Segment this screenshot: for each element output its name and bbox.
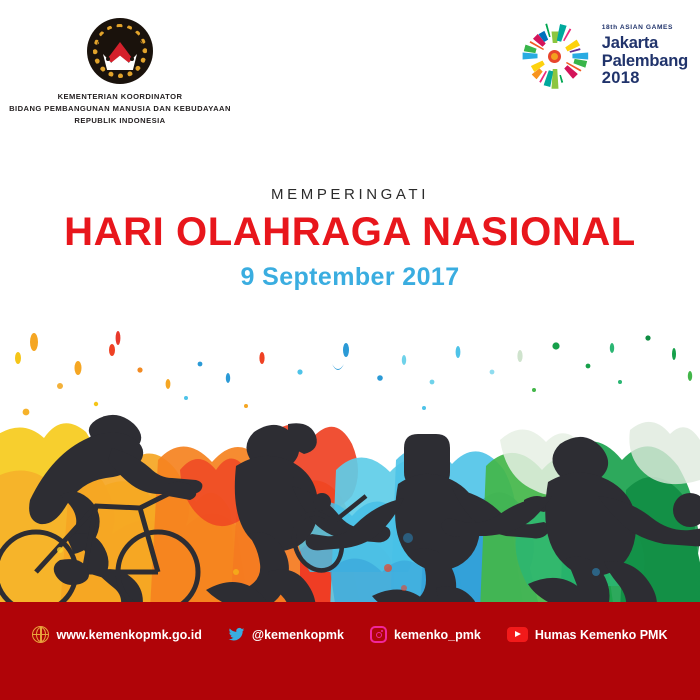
ministry-lockup: KEMENTERIAN KOORDINATOR BIDANG PEMBANGUN… — [0, 18, 240, 126]
sport-splash-artwork — [0, 320, 700, 610]
asian-games-ray — [551, 31, 558, 43]
asian-games-logo: 18th ASIAN GAMES Jakarta Palembang 2018 — [516, 14, 688, 98]
asian-games-wordmark: 18th ASIAN GAMES Jakarta Palembang 2018 — [602, 25, 688, 86]
asian-games-city-2: Palembang — [602, 53, 688, 70]
asian-games-year: 2018 — [602, 70, 688, 87]
asian-games-ray — [559, 75, 563, 84]
page-title: HARI OLAHRAGA NASIONAL — [0, 212, 700, 252]
ministry-name: KEMENTERIAN KOORDINATOR BIDANG PEMBANGUN… — [0, 91, 240, 126]
social-label-twitter: @kemenkopmk — [252, 628, 344, 642]
asian-games-energy-of-asia-icon — [516, 14, 594, 98]
event-date: 9 September 2017 — [0, 263, 700, 292]
social-label-youtube: Humas Kemenko PMK — [535, 628, 668, 642]
asian-games-ray — [522, 53, 537, 60]
instagram-icon — [370, 626, 387, 643]
ministry-line-3: REPUBLIK INDONESIA — [0, 115, 240, 127]
eyebrow-text: MEMPERINGATI — [0, 186, 700, 203]
globe-icon — [32, 626, 49, 643]
asian-games-edition: 18th ASIAN GAMES — [602, 25, 688, 32]
social-link-youtube[interactable]: Humas Kemenko PMK — [507, 627, 668, 642]
twitter-icon — [228, 626, 245, 643]
kemenko-pmk-emblem-icon — [87, 18, 153, 84]
social-link-instagram[interactable]: kemenko_pmk — [370, 626, 481, 643]
ministry-line-1: KEMENTERIAN KOORDINATOR — [0, 91, 240, 103]
asian-games-city-1: Jakarta — [602, 35, 688, 52]
social-link-twitter[interactable]: @kemenkopmk — [228, 626, 344, 643]
asian-games-ray — [563, 64, 578, 79]
social-links: www.kemenkopmk.go.id @kemenkopmk kemenko… — [0, 626, 700, 643]
youtube-icon — [507, 627, 528, 642]
poster-canvas: KEMENTERIAN KOORDINATOR BIDANG PEMBANGUN… — [0, 0, 700, 700]
social-link-website[interactable]: www.kemenkopmk.go.id — [32, 626, 201, 643]
social-label-instagram: kemenko_pmk — [394, 628, 481, 642]
ministry-line-2: BIDANG PEMBANGUNAN MANUSIA DAN KEBUDAYAA… — [0, 103, 240, 115]
headline-block: MEMPERINGATI HARI OLAHRAGA NASIONAL 9 Se… — [0, 186, 700, 292]
footer-bar: www.kemenkopmk.go.id @kemenkopmk kemenko… — [0, 602, 700, 700]
social-label-website: www.kemenkopmk.go.id — [56, 628, 201, 642]
asian-games-ray — [572, 53, 588, 60]
